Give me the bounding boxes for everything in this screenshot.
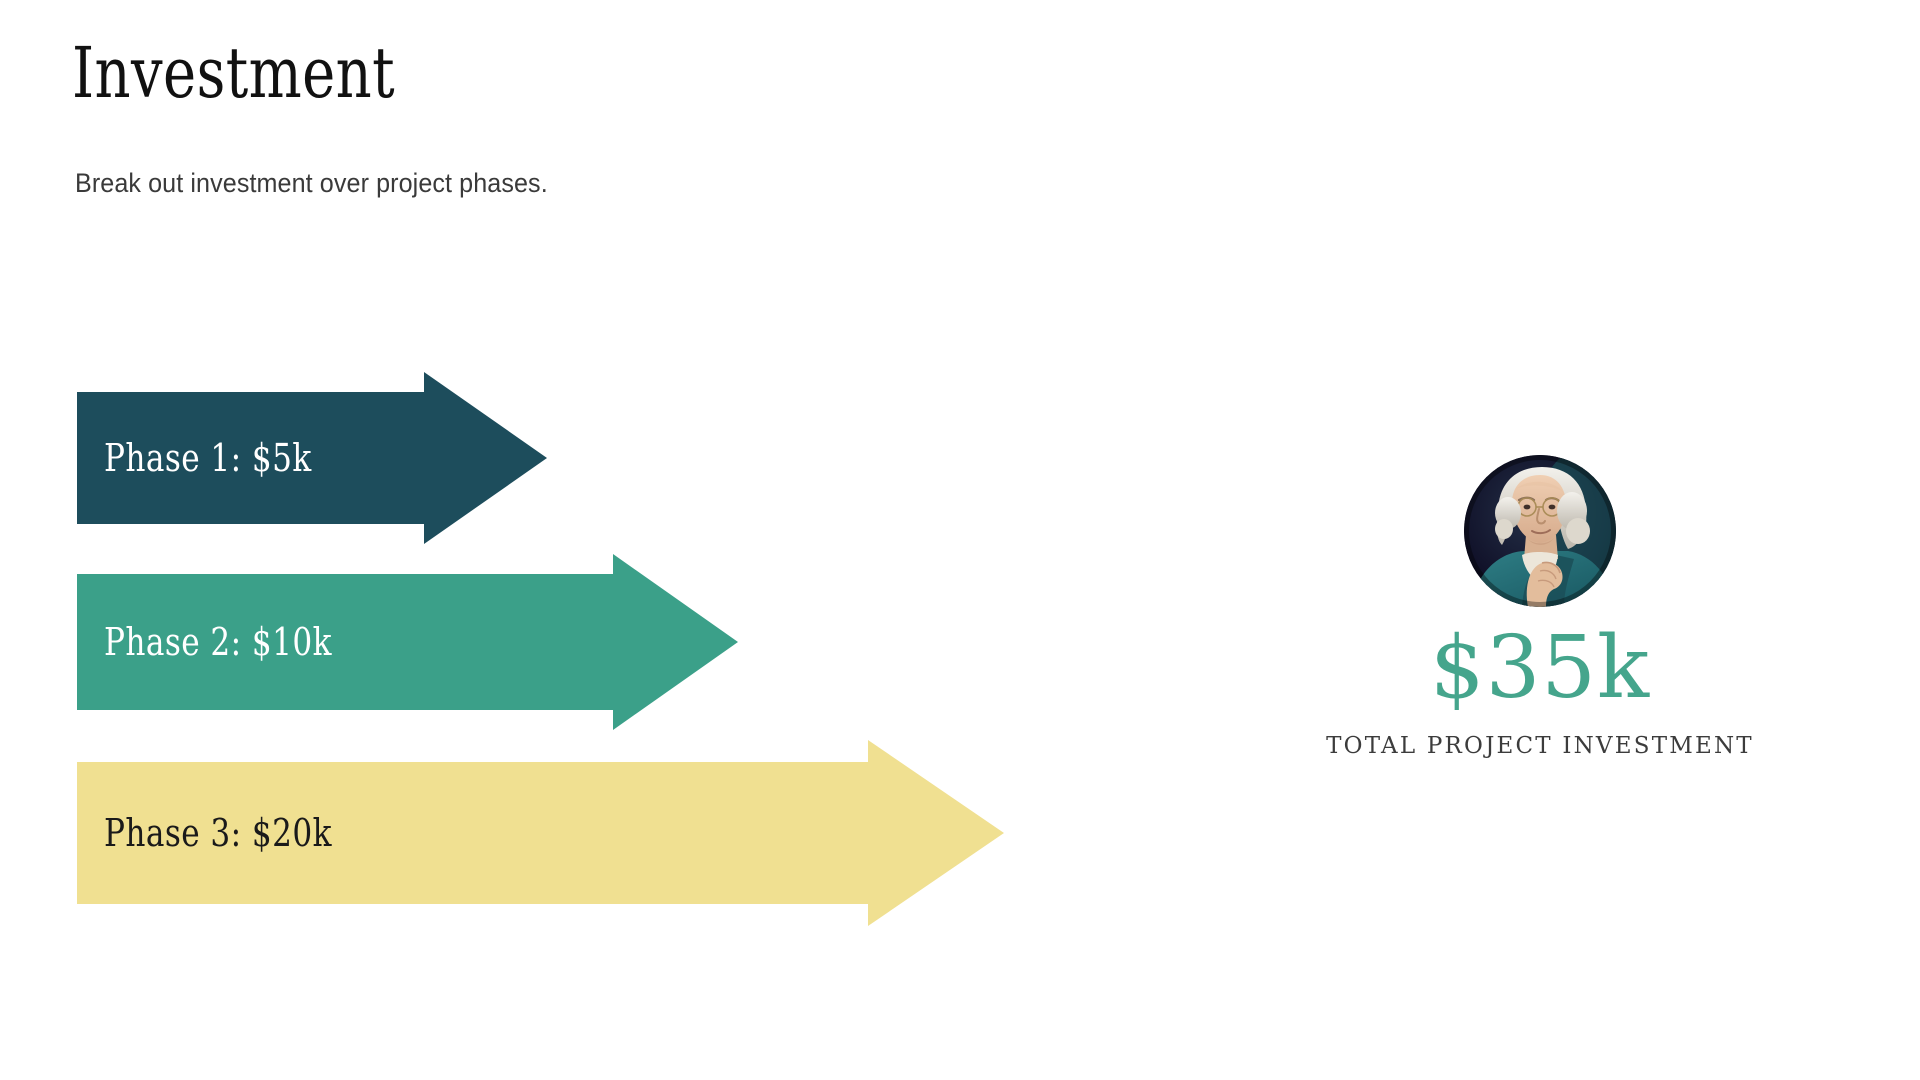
arrow-label-phase-2: Phase 2: $10k bbox=[104, 620, 332, 664]
benjamin-franklin-portrait-icon bbox=[1464, 455, 1616, 607]
total-investment-value: $35k bbox=[1240, 625, 1840, 711]
arrow-shape-phase-1 bbox=[0, 372, 640, 544]
phase-arrow-chart: Phase 1: $5k Phase 2: $10k Phase 3: $20k bbox=[0, 0, 1200, 1080]
total-investment-caption: TOTAL PROJECT INVESTMENT bbox=[1240, 733, 1840, 759]
slide-canvas: Investment Break out investment over pro… bbox=[0, 0, 1920, 1080]
total-investment-callout: $35k TOTAL PROJECT INVESTMENT bbox=[1240, 455, 1840, 759]
arrow-label-phase-3: Phase 3: $20k bbox=[104, 811, 332, 855]
arrow-label-phase-1: Phase 1: $5k bbox=[104, 436, 312, 480]
